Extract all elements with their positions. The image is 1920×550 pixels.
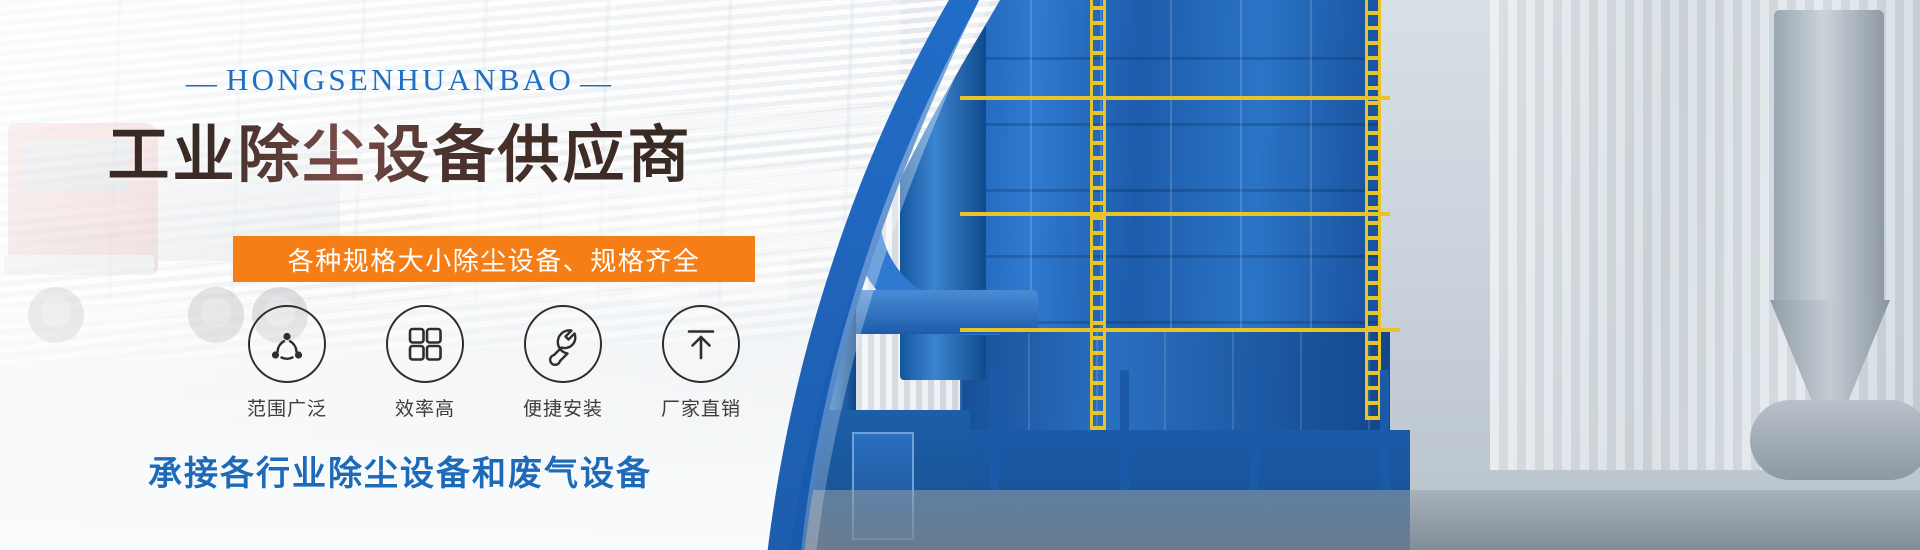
photo-right-pipe xyxy=(1750,400,1920,480)
feature-item-efficiency[interactable]: 效率高 xyxy=(371,305,479,421)
eyebrow-text: HONGSENHUANBAO xyxy=(226,62,574,97)
photo-support-leg xyxy=(1250,370,1259,490)
photo-handrail xyxy=(960,212,1390,216)
factory-photo xyxy=(790,0,1920,550)
photo-ladder xyxy=(1365,0,1381,420)
feature-label: 厂家直销 xyxy=(647,394,755,421)
photo-ground xyxy=(790,490,1920,550)
photo-support-leg xyxy=(1120,370,1129,490)
page-title: 工业除尘设备供应商 xyxy=(0,104,800,194)
feature-item-direct-sale[interactable]: 厂家直销 xyxy=(647,305,755,421)
highlight-bar: 各种规格大小除尘设备、规格齐全 xyxy=(233,236,755,282)
photo-handrail xyxy=(960,328,1400,332)
eyebrow-dash-left: — xyxy=(180,65,226,101)
eyebrow-dash-right: — xyxy=(574,65,620,101)
feature-label: 范围广泛 xyxy=(233,394,341,421)
feature-list: 范围广泛 效率高 xyxy=(233,305,755,421)
grid-squares-icon xyxy=(386,305,464,383)
wrench-icon xyxy=(524,305,602,383)
share-nodes-icon xyxy=(248,305,326,383)
tagline: 承接各行业除尘设备和废气设备 xyxy=(0,446,800,495)
feature-item-range[interactable]: 范围广泛 xyxy=(233,305,341,421)
banner-content: —HONGSENHUANBAO— 工业除尘设备供应商 各种规格大小除尘设备、规格… xyxy=(0,0,860,550)
upload-arrow-icon xyxy=(662,305,740,383)
photo-support-leg xyxy=(990,370,999,490)
feature-item-install[interactable]: 便捷安装 xyxy=(509,305,617,421)
feature-label: 效率高 xyxy=(371,394,479,421)
feature-label: 便捷安装 xyxy=(509,394,617,421)
photo-support-leg xyxy=(1380,370,1389,490)
brand-eyebrow: —HONGSENHUANBAO— xyxy=(0,62,800,101)
photo-handrail xyxy=(960,96,1390,100)
banner-root: —HONGSENHUANBAO— 工业除尘设备供应商 各种规格大小除尘设备、规格… xyxy=(0,0,1920,550)
highlight-bar-text: 各种规格大小除尘设备、规格齐全 xyxy=(288,241,701,278)
photo-right-duct xyxy=(1774,10,1884,310)
